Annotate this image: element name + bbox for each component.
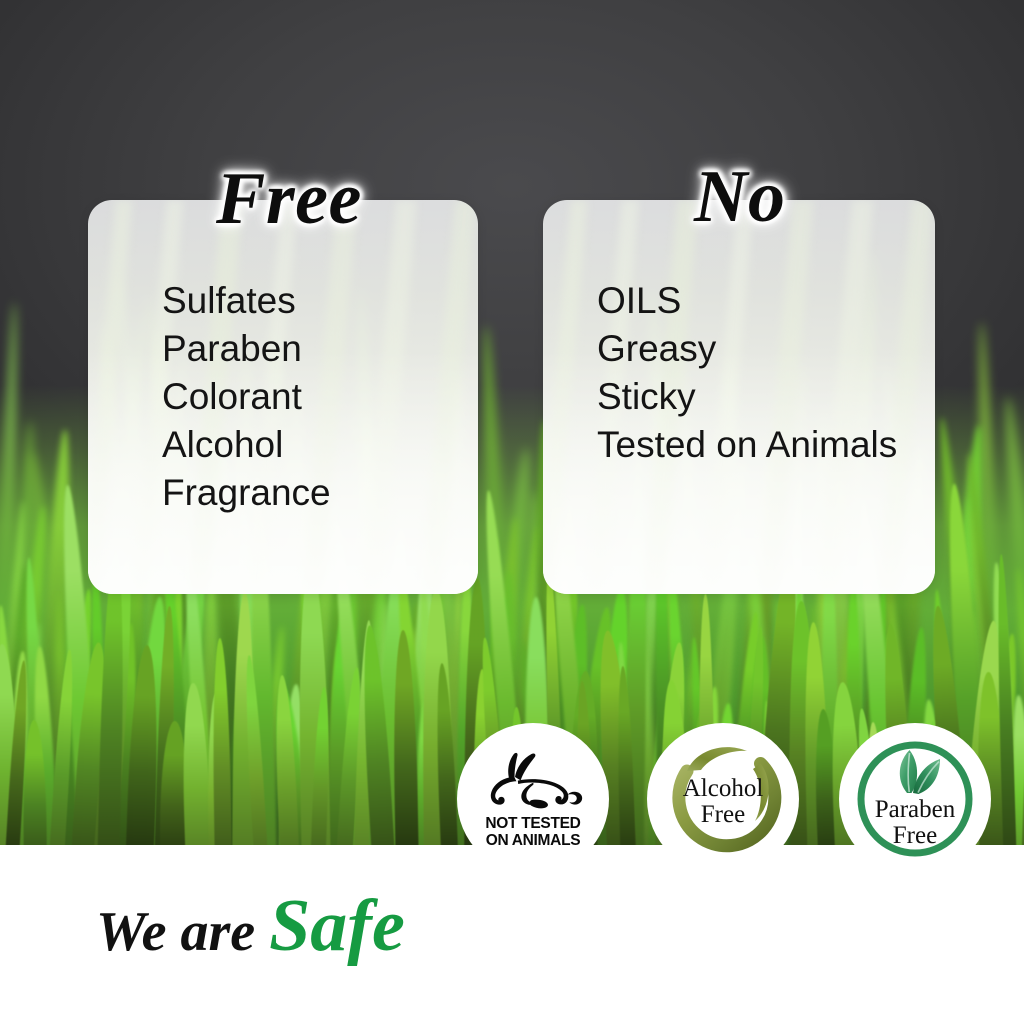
alcohol-line-1: Alcohol xyxy=(647,776,799,802)
list-item: OILS xyxy=(597,277,897,325)
cruelty-free-label: NOT TESTED ON ANIMALS xyxy=(485,815,580,849)
list-item: Sticky xyxy=(597,373,897,421)
list-item: Paraben xyxy=(162,325,331,373)
rabbit-icon xyxy=(481,750,585,812)
list-item: Tested on Animals xyxy=(597,421,897,469)
cruelty-line-1: NOT TESTED xyxy=(485,815,580,832)
cruelty-line-2: ON ANIMALS xyxy=(485,832,580,849)
list-item: Sulfates xyxy=(162,277,331,325)
free-card-list: Sulfates Paraben Colorant Alcohol Fragra… xyxy=(162,277,331,517)
tagline-prefix: We are xyxy=(96,901,255,963)
poster-canvas: Free Sulfates Paraben Colorant Alcohol F… xyxy=(0,0,1024,1024)
badge-paraben-free: Paraben Free xyxy=(839,723,991,875)
alcohol-free-label: Alcohol Free xyxy=(647,776,799,828)
paraben-line-1: Paraben xyxy=(839,797,991,823)
list-item: Alcohol xyxy=(162,421,331,469)
badge-alcohol-free: Alcohol Free xyxy=(647,723,799,875)
list-item: Fragrance xyxy=(162,469,331,517)
paraben-line-2: Free xyxy=(839,823,991,849)
tagline-highlight: Safe xyxy=(269,885,405,967)
no-card-heading: No xyxy=(694,160,785,234)
tagline: We areSafe xyxy=(96,884,405,969)
badge-not-tested-on-animals: NOT TESTED ON ANIMALS xyxy=(457,723,609,875)
list-item: Colorant xyxy=(162,373,331,421)
paraben-free-label: Paraben Free xyxy=(839,797,991,849)
alcohol-line-2: Free xyxy=(647,802,799,828)
no-card-list: OILS Greasy Sticky Tested on Animals xyxy=(597,277,897,469)
list-item: Greasy xyxy=(597,325,897,373)
free-card-heading: Free xyxy=(216,162,362,236)
